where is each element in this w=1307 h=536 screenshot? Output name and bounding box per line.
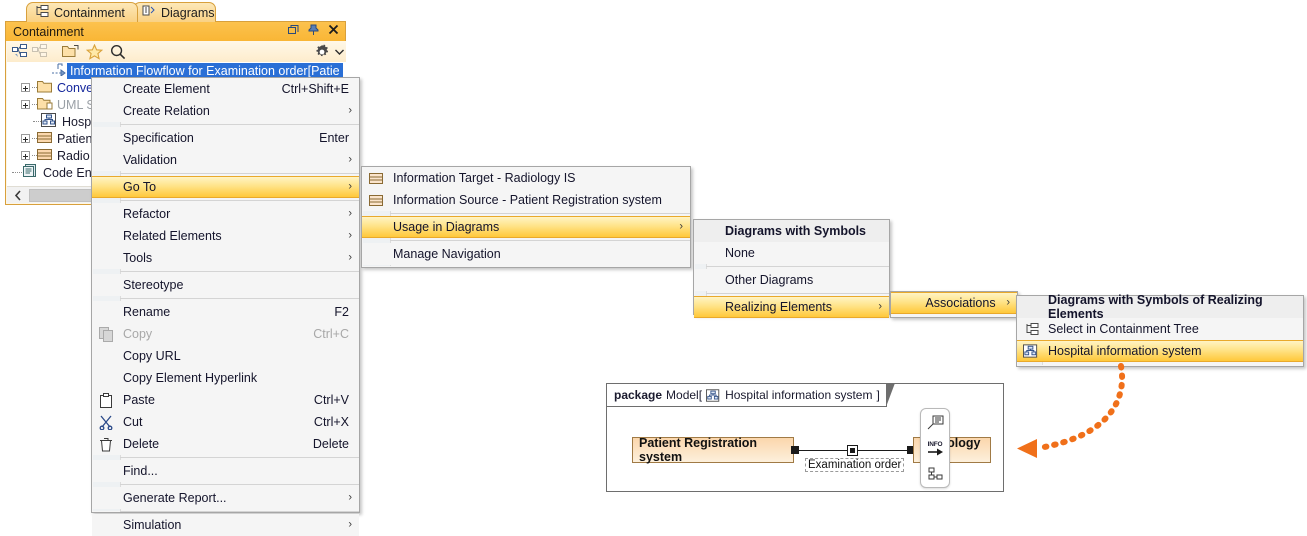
class-icon <box>37 148 54 164</box>
menu-item-rename[interactable]: RenameF2 <box>92 301 359 323</box>
menu-separator <box>706 266 889 267</box>
submenu-arrow-icon: › <box>348 493 352 504</box>
menu-item-find[interactable]: Find... <box>92 460 359 482</box>
menu-item-stereotype[interactable]: Stereotype <box>92 274 359 296</box>
folder-profile-icon <box>37 97 54 113</box>
menu-item-shortcut: Ctrl+C <box>313 327 359 341</box>
containment-tree-icon <box>1017 318 1045 340</box>
package-close-bracket: ] <box>876 388 879 402</box>
connector-label: Examination order <box>805 458 904 472</box>
submenu-arrow-icon: › <box>348 253 352 264</box>
options-dropdown-arrow-icon[interactable] <box>332 42 346 61</box>
submenu-arrow-icon: › <box>878 302 882 313</box>
menu-item-validation[interactable]: Validation› <box>92 149 359 171</box>
menu-item-label: Realizing Elements <box>722 300 889 314</box>
note-icon[interactable] <box>921 409 949 435</box>
menu-item-icon-slot <box>92 367 120 389</box>
menu-item-icon-slot <box>92 225 120 247</box>
menu-separator <box>120 484 359 485</box>
menu-item-label: Usage in Diagrams <box>390 220 690 234</box>
open-folder-icon[interactable] <box>60 42 80 61</box>
menu-separator <box>120 124 359 125</box>
tree-row-label: Radio <box>54 149 90 163</box>
delete-icon <box>92 433 120 455</box>
menu-item-label: Cut <box>120 415 314 429</box>
menu-item-icon-slot <box>92 487 120 509</box>
menu-item-label: Paste <box>120 393 314 407</box>
menu-separator <box>120 200 359 201</box>
submenu-arrow-icon: › <box>348 155 352 166</box>
menu-item-label: Rename <box>120 305 334 319</box>
menu-separator <box>120 457 359 458</box>
menu-separator <box>390 240 690 241</box>
class-icon <box>37 131 54 147</box>
package-keyword: package <box>614 388 662 402</box>
menu-item-information-source-patient-registration-system[interactable]: Information Source - Patient Registratio… <box>362 189 690 211</box>
menu-item-none[interactable]: None <box>694 242 889 264</box>
menu-item-label: Create Element <box>120 82 282 96</box>
class-icon <box>362 167 390 189</box>
menu-item-icon-slot <box>362 216 390 238</box>
submenu-arrow-icon: › <box>1006 298 1010 309</box>
menu-separator <box>120 511 359 512</box>
menu-item-icon-slot <box>92 176 120 198</box>
menu-item-label: Refactor <box>120 207 359 221</box>
menu-item-icon-slot <box>92 514 120 536</box>
information-flow-icon[interactable]: INFO <box>921 435 949 461</box>
menu-item-label: Other Diagrams <box>722 273 889 287</box>
menu-item-icon-slot <box>92 203 120 225</box>
options-gear-icon[interactable] <box>312 42 332 61</box>
menu-item-icon-slot <box>92 345 120 367</box>
paste-icon <box>92 389 120 411</box>
menu-item-manage-navigation[interactable]: Manage Navigation <box>362 243 690 265</box>
menu-item-icon-slot <box>694 242 722 264</box>
select-in-containment-tree-disabled-icon <box>30 42 50 61</box>
menu-item-information-target-radiology-is[interactable]: Information Target - Radiology IS <box>362 167 690 189</box>
menu-separator <box>120 298 359 299</box>
information-flow-marker-icon <box>847 445 858 456</box>
expander-icon[interactable] <box>21 134 30 143</box>
cut-icon <box>92 411 120 433</box>
info-label: INFO <box>928 441 943 448</box>
menu-item-usage-in-diagrams[interactable]: Usage in Diagrams› <box>362 216 690 238</box>
menu-item-tools[interactable]: Tools› <box>92 247 359 269</box>
menu-item-select-in-containment-tree[interactable]: Select in Containment Tree <box>1017 318 1303 340</box>
menu-item-refactor[interactable]: Refactor› <box>92 203 359 225</box>
menu-item-icon-slot <box>92 100 120 122</box>
folder-icon <box>37 80 54 96</box>
menu-item-create-element[interactable]: Create ElementCtrl+Shift+E <box>92 78 359 100</box>
diagram-icon <box>1017 340 1045 362</box>
copy-icon <box>92 323 120 345</box>
menu-item-shortcut: F2 <box>334 305 359 319</box>
menu-item-diagrams-with-symbols-of-realizing-elements: Diagrams with Symbols of Realizing Eleme… <box>1017 296 1303 318</box>
expander-icon[interactable] <box>21 83 30 92</box>
node-label: Patient Registration system <box>639 436 787 464</box>
menu-item-label: Copy Element Hyperlink <box>120 371 359 385</box>
menu-item-realizing-elements[interactable]: Realizing Elements› <box>694 296 889 318</box>
menu-item-label: Copy URL <box>120 349 359 363</box>
package-name: Hospital information system <box>725 388 872 402</box>
menu-item-icon-slot <box>92 274 120 296</box>
context-menu[interactable]: Create ElementCtrl+Shift+ECreate Relatio… <box>91 77 360 513</box>
menu-item-label: Copy <box>120 327 313 341</box>
diagram-icon <box>706 389 721 402</box>
menu-item-delete[interactable]: DeleteDelete <box>92 433 359 455</box>
menu-item-icon-slot <box>362 243 390 265</box>
restore-icon[interactable] <box>288 24 299 37</box>
menu-item-shortcut: Ctrl+V <box>314 393 359 407</box>
menu-item-label: Stereotype <box>120 278 359 292</box>
menu-item-paste[interactable]: PasteCtrl+V <box>92 389 359 411</box>
menu-item-label: Hospital information system <box>1045 344 1303 358</box>
menu-item-go-to[interactable]: Go To› <box>92 176 359 198</box>
package-header: package Model[ Hospital information syst… <box>606 383 887 407</box>
menu-item-label: Tools <box>120 251 359 265</box>
tab-containment-label: Containment <box>54 6 125 20</box>
callout-arrow-icon <box>1005 358 1145 473</box>
menu-item-label: Go To <box>120 180 359 194</box>
menu-item-cut[interactable]: CutCtrl+X <box>92 411 359 433</box>
diagram-icon <box>41 113 59 130</box>
menu-item-label: Associations <box>901 296 1017 310</box>
menu-item-create-relation[interactable]: Create Relation› <box>92 100 359 122</box>
menu-item-label: Validation <box>120 153 359 167</box>
select-in-containment-tree-icon[interactable] <box>10 42 30 61</box>
pin-icon[interactable] <box>308 24 319 37</box>
menu-item-icon-slot <box>92 149 120 171</box>
usage-in-diagrams-submenu[interactable]: Diagrams with SymbolsNoneOther DiagramsR… <box>693 219 890 315</box>
menu-item-icon-slot <box>92 78 120 100</box>
menu-item-label: Diagrams with Symbols of Realizing Eleme… <box>1045 293 1303 321</box>
scroll-left-icon[interactable] <box>7 190 29 201</box>
tree-row-label: Code Eng <box>40 166 99 180</box>
menu-item-copy-element-hyperlink[interactable]: Copy Element Hyperlink <box>92 367 359 389</box>
menu-item-generate-report[interactable]: Generate Report...› <box>92 487 359 509</box>
menu-item-label: Find... <box>120 464 359 478</box>
smart-manipulator-toolbar[interactable]: INFO <box>920 408 950 488</box>
containment-tree-icon <box>35 5 49 20</box>
menu-item-shortcut: Enter <box>319 131 359 145</box>
information-flow-icon <box>51 63 67 79</box>
menu-item-label: Manage Navigation <box>390 247 690 261</box>
menu-item-icon-slot <box>92 247 120 269</box>
node-patient-registration-system[interactable]: Patient Registration system <box>632 437 794 463</box>
tree-row-label: Hospi <box>59 115 94 129</box>
menu-separator <box>120 173 359 174</box>
submenu-arrow-icon: › <box>348 209 352 220</box>
menu-item-label: Delete <box>120 437 313 451</box>
menu-item-associations[interactable]: Associations› <box>891 292 1017 314</box>
menu-item-other-diagrams[interactable]: Other Diagrams <box>694 269 889 291</box>
goto-submenu[interactable]: Information Target - Radiology ISInforma… <box>361 166 691 268</box>
close-icon[interactable] <box>328 24 339 37</box>
diagram-preview: package Model[ Hospital information syst… <box>606 383 1004 492</box>
associations-submenu[interactable]: Diagrams with Symbols of Realizing Eleme… <box>1016 295 1304 367</box>
menu-item-hospital-information-system[interactable]: Hospital information system <box>1017 340 1303 362</box>
panel-titlebar: Containment <box>6 22 345 41</box>
menu-item-shortcut: Ctrl+Shift+E <box>282 82 359 96</box>
menu-item-related-elements[interactable]: Related Elements› <box>92 225 359 247</box>
realizing-elements-submenu[interactable]: Associations› <box>890 291 1018 318</box>
menu-item-icon-slot <box>694 220 722 242</box>
menu-item-icon-slot <box>1017 296 1045 318</box>
submenu-arrow-icon: › <box>348 520 352 531</box>
menu-item-label: Related Elements <box>120 229 359 243</box>
submenu-arrow-icon: › <box>679 222 683 233</box>
expander-icon[interactable] <box>21 100 30 109</box>
menu-item-label: Information Source - Patient Registratio… <box>390 193 690 207</box>
menu-item-icon-slot <box>92 127 120 149</box>
menu-item-label: Information Target - Radiology IS <box>390 171 690 185</box>
package-model-label: Model[ <box>666 388 702 402</box>
menu-separator <box>120 271 359 272</box>
menu-item-label: Diagrams with Symbols <box>722 224 889 238</box>
menu-item-shortcut: Ctrl+X <box>314 415 359 429</box>
menu-item-label: Specification <box>120 131 319 145</box>
panel-title-label: Containment <box>13 25 84 39</box>
menu-item-shortcut: Delete <box>313 437 359 451</box>
menu-item-simulation[interactable]: Simulation› <box>92 514 359 536</box>
class-icon <box>362 189 390 211</box>
tree-row-label: UML S <box>54 98 95 112</box>
menu-item-icon-slot <box>694 296 722 318</box>
tab-containment[interactable]: Containment <box>26 2 138 22</box>
submenu-arrow-icon: › <box>348 231 352 242</box>
tree-row-label: Conve <box>54 81 93 95</box>
menu-item-copy[interactable]: CopyCtrl+C <box>92 323 359 345</box>
menu-item-icon-slot <box>694 269 722 291</box>
menu-item-icon-slot <box>92 460 120 482</box>
menu-item-label: Select in Containment Tree <box>1045 322 1303 336</box>
tab-diagrams-label: Diagrams <box>161 6 215 20</box>
menu-item-specification[interactable]: SpecificationEnter <box>92 127 359 149</box>
menu-item-copy-url[interactable]: Copy URL <box>92 345 359 367</box>
submenu-arrow-icon: › <box>348 106 352 117</box>
menu-separator <box>706 293 889 294</box>
menu-item-label: None <box>722 246 889 260</box>
panel-toolbar <box>7 41 346 62</box>
menu-item-label: Generate Report... <box>120 491 359 505</box>
submenu-arrow-icon: › <box>348 182 352 193</box>
panel-tabstrip: Containment Diagrams <box>0 0 347 22</box>
menu-item-label: Simulation <box>120 518 359 532</box>
menu-item-diagrams-with-symbols: Diagrams with Symbols <box>694 220 889 242</box>
favorites-star-icon[interactable] <box>84 42 104 61</box>
related-elements-icon[interactable] <box>921 461 949 487</box>
code-engineering-icon <box>22 164 40 181</box>
search-icon[interactable] <box>108 42 128 61</box>
tree-row-label: Patien <box>54 132 92 146</box>
menu-separator <box>390 213 690 214</box>
diagrams-icon <box>142 5 156 20</box>
menu-item-label: Create Relation <box>120 104 359 118</box>
tab-diagrams[interactable]: Diagrams <box>133 2 216 22</box>
menu-item-icon-slot <box>92 301 120 323</box>
expander-icon[interactable] <box>21 151 30 160</box>
